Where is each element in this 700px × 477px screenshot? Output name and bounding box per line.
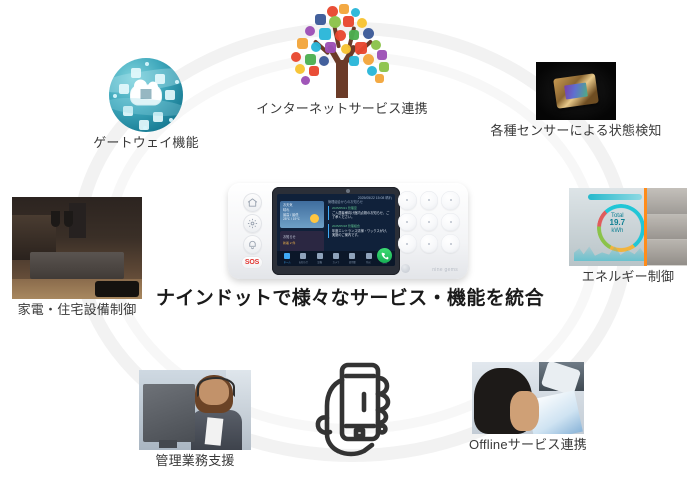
nav-item-notice[interactable]: お知らせ — [295, 253, 311, 264]
device-icon — [317, 253, 323, 259]
home-icon — [284, 253, 290, 259]
node-internet-service[interactable]: インターネットサービス連携 — [242, 2, 442, 117]
sun-icon — [310, 214, 319, 223]
nav-item-usage[interactable]: 使用量 — [344, 253, 360, 264]
nav-label: お知らせ — [299, 260, 308, 264]
headset-icon — [197, 377, 235, 397]
meter-icon — [349, 253, 355, 259]
nav-label: 設備 — [317, 260, 322, 264]
device-microphone — [401, 264, 410, 273]
camera-icon — [333, 253, 339, 259]
keypad-key[interactable] — [441, 191, 460, 210]
weather-line3: 28℃ / 19℃ — [283, 217, 300, 222]
weather-card[interactable]: お天気 晴れ 最高 / 最低 28℃ / 19℃ — [280, 201, 324, 228]
node-internet-service-label: インターネットサービス連携 — [242, 101, 442, 117]
notice-card-body: 新着 2 件 — [283, 241, 295, 245]
notice-card-title: お知らせ — [283, 234, 296, 239]
nav-label: ホーム — [284, 260, 291, 264]
cloud-icon — [131, 86, 161, 105]
device-camera-dot — [346, 189, 350, 193]
call-fab-button[interactable] — [377, 248, 392, 263]
node-management[interactable]: 管理業務支援 — [139, 370, 251, 469]
feed-heading: 管理組合からのお知らせ — [328, 199, 392, 204]
node-gateway-label: ゲートウェイ機能 — [86, 135, 206, 151]
keypad-key[interactable] — [420, 213, 439, 232]
home-icon[interactable] — [243, 193, 262, 212]
nav-item-camera[interactable]: カメラ — [328, 253, 344, 264]
node-smartphone[interactable] — [312, 356, 398, 465]
nav-item-home[interactable]: ホーム — [279, 253, 295, 264]
bell-alarm-icon[interactable] — [243, 235, 262, 254]
feed-item[interactable]: 2025/05/18 管理組合 年度エントランス清掃・ワックスがけ、実施のご案内… — [328, 224, 392, 238]
device-brand-logo: nine gems — [432, 267, 458, 273]
nav-item-device[interactable]: 設備 — [312, 253, 328, 264]
node-gateway[interactable]: ゲートウェイ機能 — [86, 58, 206, 151]
node-sensors-label: 各種センサーによる状態検知 — [466, 123, 686, 139]
sos-button[interactable]: SOS — [241, 256, 263, 269]
device-side-buttons: SOS — [234, 190, 270, 272]
keypad-key[interactable] — [420, 234, 439, 253]
node-offline-service[interactable]: Offlineサービス連携 — [458, 362, 598, 453]
nav-label: 使用量 — [349, 260, 356, 264]
social-media-tree-icon — [279, 2, 405, 98]
nav-item-disaster[interactable]: 防災 — [360, 253, 376, 264]
node-management-label: 管理業務支援 — [139, 453, 251, 469]
page-headline: ナインドットで様々なサービス・機能を統合 — [0, 283, 700, 310]
settings-gear-icon[interactable] — [243, 214, 262, 233]
nav-label: カメラ — [333, 260, 340, 264]
feed-item[interactable]: 2025/05/21 管理室 ご入居者様向け館内点検のお知らせ、ご了承ください。 — [328, 206, 392, 220]
keypad-key[interactable] — [398, 213, 417, 232]
node-sensors[interactable]: 各種センサーによる状態検知 — [466, 62, 686, 139]
keypad-key[interactable] — [398, 234, 417, 253]
feed-list[interactable]: 管理組合からのお知らせ 2025/05/21 管理室 ご入居者様向け館内点検のお… — [328, 199, 392, 242]
nav-label: 防災 — [366, 260, 371, 264]
call-center-operator-photo — [139, 370, 251, 450]
keypad-key[interactable] — [441, 234, 460, 253]
keypad-key[interactable] — [398, 191, 417, 210]
device-screen[interactable]: 2025/05/22 15:08 晴れ お天気 晴れ 最高 / 最低 28℃ /… — [277, 194, 395, 266]
bell-icon — [300, 253, 306, 259]
globe-network-cloud-icon — [109, 58, 183, 132]
feed-item-text: ご入居者様向け館内点検のお知らせ、ご了承ください。 — [332, 211, 392, 221]
image-sensor-chip-icon — [536, 62, 616, 120]
keypad-key[interactable] — [420, 191, 439, 210]
shield-icon — [366, 253, 372, 259]
node-energy[interactable]: Total19.7kWh エネルギー制御 — [563, 188, 693, 285]
keypad-key[interactable] — [441, 213, 460, 232]
device-keypad[interactable] — [398, 191, 460, 253]
hand-holding-smartphone-icon — [312, 356, 398, 460]
energy-dashboard-photo: Total19.7kWh — [569, 188, 687, 266]
field-staff-photo — [472, 362, 584, 434]
feed-item-text: 年度エントランス清掃・ワックスがけ、実施のご案内です。 — [332, 229, 392, 239]
infographic-canvas: ゲートウェイ機能 — [0, 0, 700, 477]
nine-dot-home-panel[interactable]: SOS 2025/05/22 15:08 晴れ お天気 晴れ 最高 / 最低 2… — [228, 183, 468, 279]
node-offline-service-label: Offlineサービス連携 — [458, 437, 598, 453]
